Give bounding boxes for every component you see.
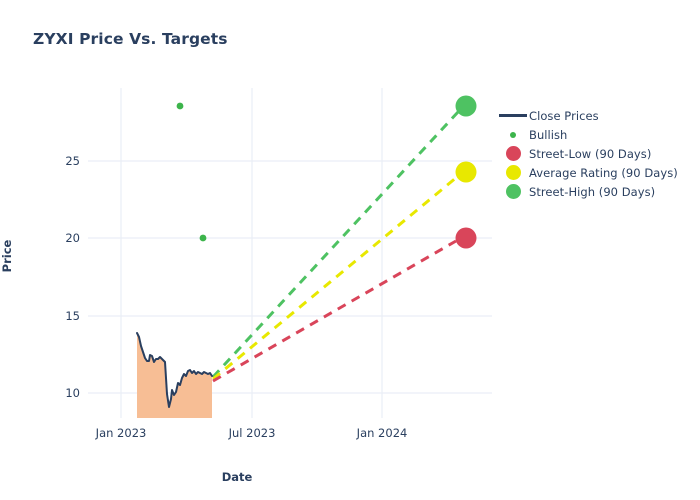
legend-item-label: Average Rating (90 Days) [529,166,678,180]
y-axis-title: Price [0,240,14,273]
legend-item-label: Street-High (90 Days) [529,185,655,199]
y-axis-tick-label: 25 [65,154,80,168]
legend-dot-swatch-icon [506,165,521,180]
legend-line-swatch-icon [499,114,527,116]
target-projection-lines [213,112,458,381]
x-axis-tick-label: Jan 2023 [96,426,147,440]
legend-symbol-dot [497,184,529,199]
marker-street-low[interactable] [456,228,477,249]
legend-item[interactable]: Street-Low (90 Days) [497,144,692,163]
x-axis-title: Date [0,470,587,484]
plot-area [0,0,700,500]
y-axis-tick-label: 15 [65,309,80,323]
close-prices-area-fill [137,333,212,418]
legend-symbol-line [497,114,529,116]
x-axis-tick-label: Jan 2024 [357,426,408,440]
legend-dot-swatch-icon [506,184,521,199]
marker-bullish-2[interactable] [200,235,207,242]
street-high-line [213,112,458,377]
marker-average-rating[interactable] [456,162,477,183]
legend-symbol-dot [497,146,529,161]
legend-item-label: Bullish [529,128,567,142]
legend-item-label: Street-Low (90 Days) [529,147,651,161]
target-markers [177,96,477,249]
legend-dot-swatch-icon [506,146,521,161]
legend-symbol-dot [497,165,529,180]
chart-container: ZYXI Price Vs. Targets 10152025Jan 2023J… [0,0,700,500]
x-axis-tick-label: Jul 2023 [229,426,276,440]
y-axis-tick-label: 10 [65,386,80,400]
average-rating-line [213,177,457,379]
chart-legend[interactable]: Close PricesBullishStreet-Low (90 Days)A… [497,106,692,201]
legend-item[interactable]: Street-High (90 Days) [497,182,692,201]
legend-item[interactable]: Bullish [497,125,692,144]
street-low-line [213,241,456,381]
marker-street-high[interactable] [456,96,477,117]
legend-dot-swatch-icon [510,132,516,138]
legend-item[interactable]: Close Prices [497,106,692,125]
legend-item[interactable]: Average Rating (90 Days) [497,163,692,182]
legend-item-label: Close Prices [529,109,599,123]
y-axis-tick-label: 20 [65,231,80,245]
close-prices-fill-path [137,333,212,418]
marker-bullish-1[interactable] [177,103,184,110]
legend-symbol-dot [497,132,529,138]
